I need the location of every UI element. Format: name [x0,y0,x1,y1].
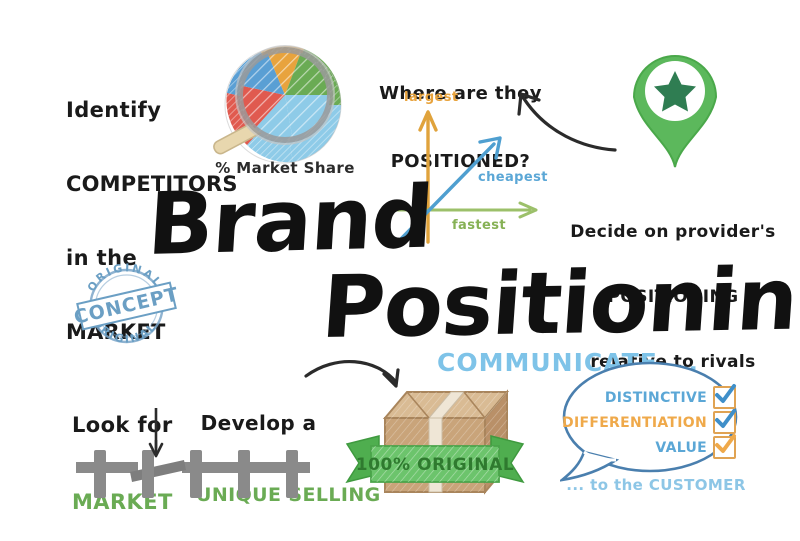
original-concept-stamp: ORIGINAL ORIGINAL CONCEPT [74,260,179,350]
checkbox-differentiation[interactable] [713,411,736,434]
checklist-row[interactable]: VALUE [566,435,736,460]
usp-line-1: Develop a [196,411,321,435]
axis-label-largest: largest [404,90,459,105]
page-title-line-2: Positioning [318,249,800,358]
checkbox-distinctive[interactable] [713,386,736,409]
gaps-line-1: Look for [72,413,212,439]
checklist-label-value: VALUE [655,440,707,456]
svg-text:CONCEPT: CONCEPT [74,283,179,328]
banner-text: 100% ORIGINAL [356,455,515,475]
checklist-label-distinctive: DISTINCTIVE [605,390,707,406]
checklist-label-differentiation: DIFFERENTIATION [562,415,707,431]
axis-label-fastest: fastest [452,218,506,233]
pin-line-1: Decide on provider's [548,222,798,244]
package-box-with-banner: 100% ORIGINAL [345,370,525,510]
down-arrow-to-gap-icon [148,408,168,454]
to-the-customer-text: ... to the CUSTOMER [566,477,746,495]
checkbox-value[interactable] [713,436,736,459]
checklist-row[interactable]: DISTINCTIVE [566,385,736,410]
map-pin-star-icon [620,35,730,170]
communicate-checklist: DISTINCTIVE DIFFERENTIATION VALUE [566,385,736,460]
axis-label-cheapest: cheapest [478,170,548,185]
infographic-canvas: Identify COMPETITORS in the MARKET [0,0,800,541]
fence-with-gap-icon [72,440,312,520]
checklist-row[interactable]: DIFFERENTIATION [566,410,736,435]
